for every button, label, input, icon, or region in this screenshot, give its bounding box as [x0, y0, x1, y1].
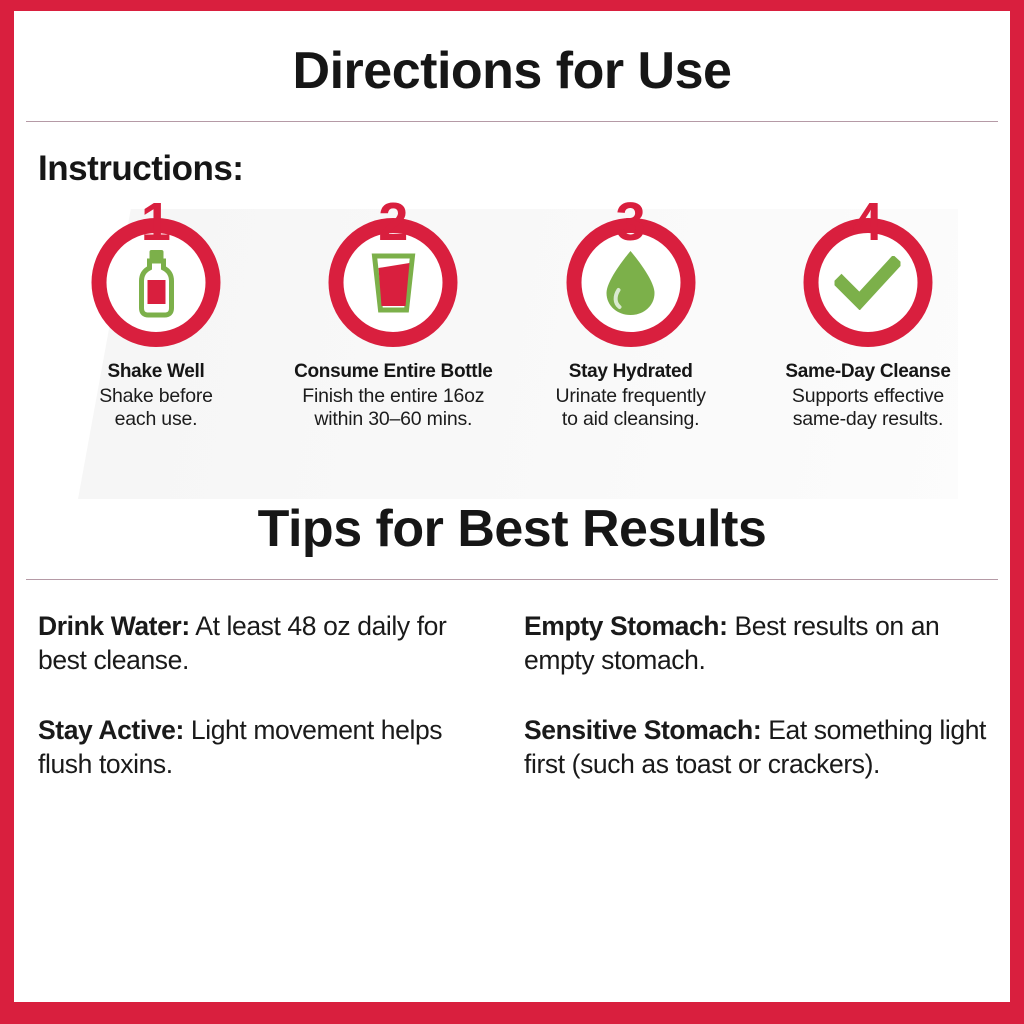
step-desc-line: Supports effective [792, 385, 944, 407]
tip-item: Stay Active: Light movement helps flush … [38, 714, 500, 782]
step-title: Consume Entire Bottle [294, 361, 493, 383]
steps-list: 1 Shake Well [14, 195, 1010, 431]
tip-label: Empty Stomach: [524, 611, 728, 641]
step-number: 2 [378, 195, 407, 249]
poster-card: Directions for Use Instructions: 1 [14, 11, 1010, 1002]
step-description: Urinate frequently to aid cleansing. [555, 385, 705, 431]
step-item: 2 Consume Entire Bottle Fini [275, 195, 511, 431]
glass-icon [363, 250, 423, 316]
tip-item: Empty Stomach: Best results on an empty … [524, 610, 986, 678]
tip-item: Sensitive Stomach: Eat something light f… [524, 714, 986, 782]
step-description: Shake before each use. [99, 385, 213, 431]
tip-item: Drink Water: At least 48 oz daily for be… [38, 610, 500, 678]
water-drop-icon [602, 248, 660, 318]
step-item: 3 Stay Hydrated Urinate freq [513, 195, 749, 431]
step-badge: 4 [800, 195, 935, 347]
tips-grid: Drink Water: At least 48 oz daily for be… [38, 610, 986, 782]
step-number: 1 [141, 195, 170, 249]
step-item: 4 Same-Day Cleanse Supports effective [750, 195, 986, 431]
step-desc-line: within 30–60 mins. [314, 408, 472, 430]
step-description: Supports effective same-day results. [792, 385, 944, 431]
step-desc-line: to aid cleansing. [562, 408, 700, 430]
instruction-steps-section: 1 Shake Well [14, 195, 1010, 495]
step-description: Finish the entire 16oz within 30–60 mins… [302, 385, 484, 431]
bottle-icon [129, 248, 183, 318]
step-number: 4 [853, 195, 882, 249]
step-desc-line: Urinate frequently [555, 385, 705, 407]
step-desc-line: Shake before [99, 385, 213, 407]
step-desc-line: Finish the entire 16oz [302, 385, 484, 407]
tip-label: Stay Active: [38, 715, 184, 745]
tip-label: Sensitive Stomach: [524, 715, 761, 745]
step-badge: 2 [326, 195, 461, 347]
step-title: Stay Hydrated [569, 361, 693, 383]
step-badge: 1 [89, 195, 224, 347]
step-desc-line: same-day results. [793, 408, 944, 430]
step-number: 3 [616, 195, 645, 249]
directions-for-use-poster: Directions for Use Instructions: 1 [0, 0, 1024, 1024]
step-badge: 3 [563, 195, 698, 347]
page-title: Directions for Use [14, 45, 1010, 97]
step-title: Shake Well [108, 361, 205, 383]
instructions-label: Instructions: [38, 149, 1010, 189]
divider-top [26, 121, 998, 122]
divider-bottom [26, 579, 998, 580]
tips-title: Tips for Best Results [14, 503, 1010, 555]
checkmark-icon [835, 256, 901, 310]
step-item: 1 Shake Well [38, 195, 274, 431]
step-desc-line: each use. [115, 408, 198, 430]
tip-label: Drink Water: [38, 611, 190, 641]
step-title: Same-Day Cleanse [785, 361, 950, 383]
